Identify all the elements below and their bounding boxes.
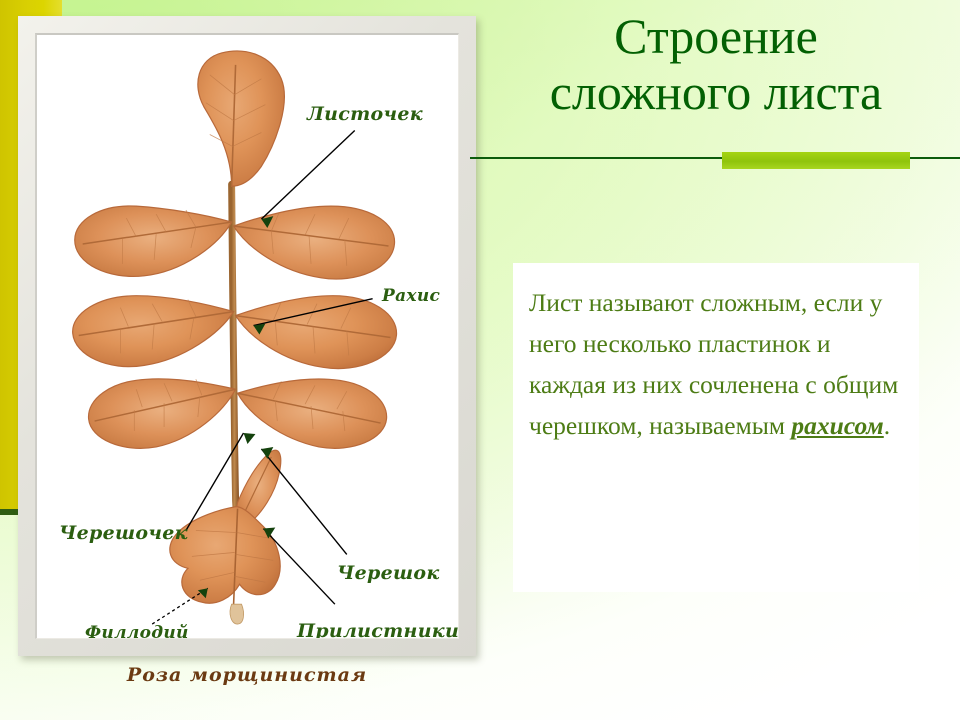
diagram-label-chereshochek: Черешочек xyxy=(59,522,188,544)
photo-frame: Листочек Рахис Черешочек Черешок Филлоди… xyxy=(18,16,476,656)
diagram-label-chereshok: Черешок xyxy=(337,562,440,584)
specimen-caption: Роза морщинистая xyxy=(18,664,476,686)
diagram-label-prilistniki: Прилистники xyxy=(297,620,459,639)
diagram-label-rahis: Рахис xyxy=(382,286,440,306)
rachis-stem xyxy=(232,184,239,552)
leader-line-dotted-phyllode xyxy=(152,588,208,624)
photo-frame-inner: Листочек Рахис Черешочек Черешок Филлоди… xyxy=(35,33,459,639)
definition-accent-word: рахисом xyxy=(791,411,883,440)
diagram-label-listochek: Листочек xyxy=(307,103,423,125)
slide-canvas: Листочек Рахис Черешочек Черешок Филлоди… xyxy=(0,0,960,720)
definition-card: Лист называют сложным, если у него неско… xyxy=(513,263,919,592)
definition-text-after: . xyxy=(884,411,890,440)
page-title: Строение сложного листа xyxy=(472,8,960,120)
compound-leaf-specimen-illustration xyxy=(37,35,458,638)
page-title-line-2: сложного листа xyxy=(472,64,960,120)
title-accent-bar xyxy=(722,152,910,169)
diagram-label-fillodiy: Филлодий xyxy=(85,623,189,639)
page-title-line-1: Строение xyxy=(472,8,960,64)
leaflet-terminal xyxy=(198,51,285,186)
definition-paragraph: Лист называют сложным, если у него неско… xyxy=(513,263,919,446)
